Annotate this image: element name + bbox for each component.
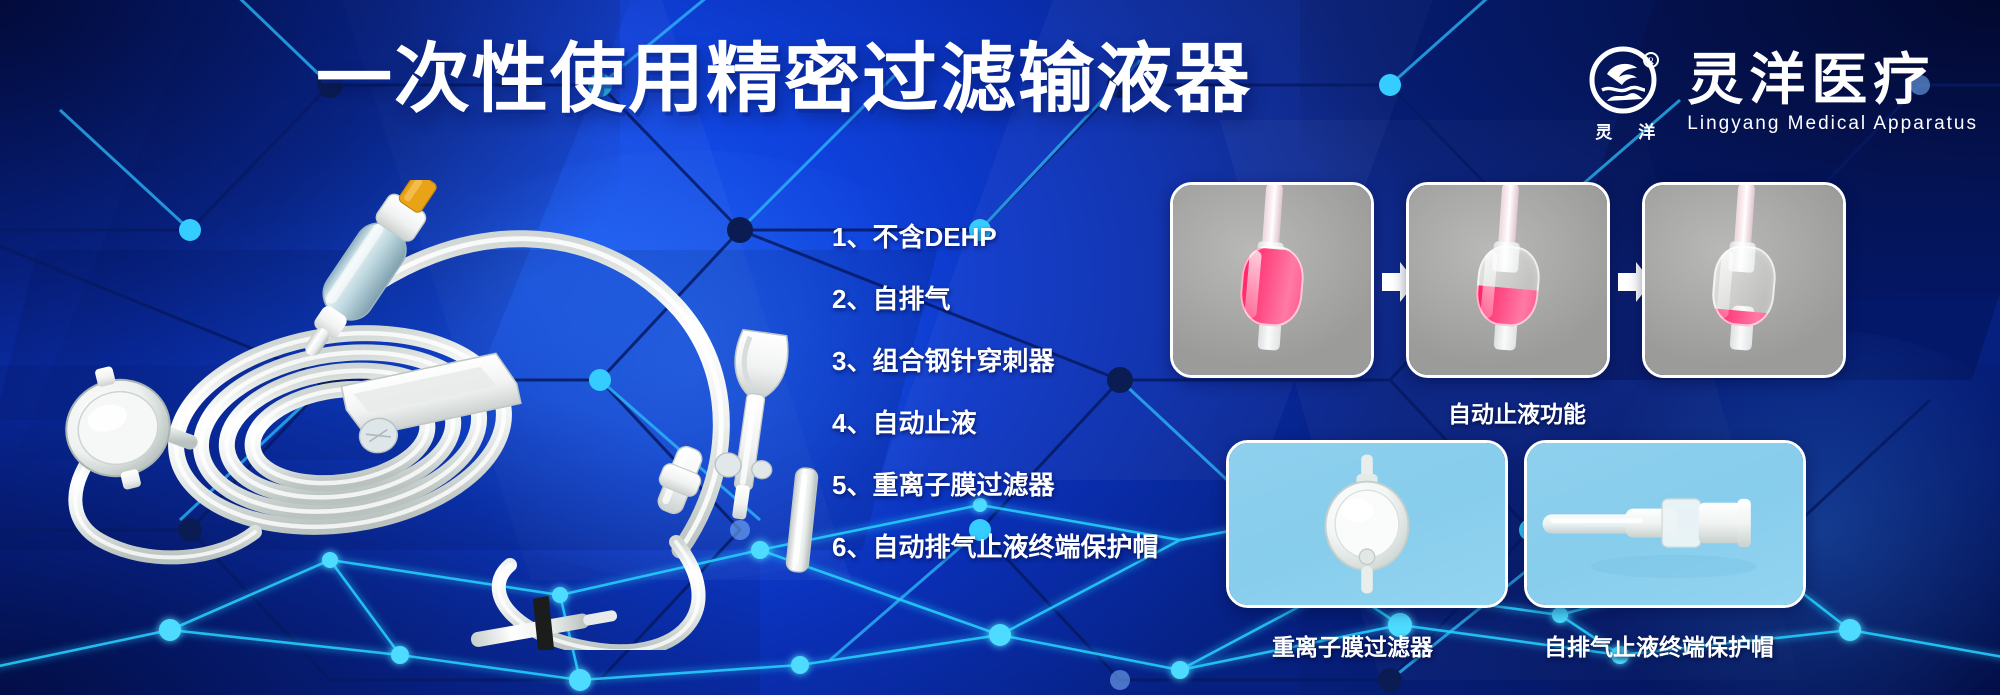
bottom-photo-filter bbox=[1226, 440, 1508, 608]
feature-item-3: 3、组合钢针穿刺器 bbox=[832, 348, 1158, 374]
sequence-photo-2 bbox=[1406, 182, 1610, 378]
bottom-photo-cap-image bbox=[1527, 443, 1803, 605]
page-title: 一次性使用精密过滤输液器 bbox=[316, 42, 1252, 118]
sequence-photo-3 bbox=[1642, 182, 1846, 378]
bottom-caption-filter: 重离子膜过滤器 bbox=[1272, 628, 1433, 662]
sequence-photo-1-image bbox=[1173, 185, 1371, 375]
feature-item-2: 2、自排气 bbox=[832, 286, 1158, 312]
company-logo: R 灵 洋 灵洋医疗 Lingyang Medical Apparatus bbox=[1579, 44, 1978, 143]
logo-wordmark: 灵洋医疗 Lingyang Medical Apparatus bbox=[1687, 52, 1978, 134]
bottom-photo-cap bbox=[1524, 440, 1806, 608]
feature-item-5: 5、重离子膜过滤器 bbox=[832, 472, 1158, 498]
sequence-caption: 自动止液功能 bbox=[1448, 395, 1586, 429]
sequence-photo-1 bbox=[1170, 182, 1374, 378]
product-banner: 一次性使用精密过滤输液器 R 灵 洋 灵洋医疗 Lingyang Medica bbox=[0, 0, 2000, 695]
logo-mark: R 灵 洋 bbox=[1579, 44, 1671, 143]
product-photo-infusion-set bbox=[40, 180, 830, 650]
logo-subcharacters: 灵 洋 bbox=[1595, 118, 1655, 143]
sequence-photo-3-image bbox=[1645, 185, 1843, 375]
feature-item-6: 6、自动排气止液终端保护帽 bbox=[832, 534, 1158, 560]
sequence-photo-2-image bbox=[1409, 185, 1607, 375]
bottom-caption-cap: 自排气止液终端保护帽 bbox=[1544, 628, 1774, 662]
lingyang-emblem-icon: R bbox=[1589, 44, 1661, 116]
feature-list: 1、不含DEHP 2、自排气 3、组合钢针穿刺器 4、自动止液 5、重离子膜过滤… bbox=[832, 224, 1158, 560]
svg-text:R: R bbox=[1648, 56, 1654, 66]
bottom-photo-filter-image bbox=[1229, 443, 1505, 605]
logo-char-yang: 洋 bbox=[1638, 118, 1655, 143]
feature-item-4: 4、自动止液 bbox=[832, 410, 1158, 436]
company-name-en: Lingyang Medical Apparatus bbox=[1687, 113, 1978, 135]
logo-char-ling: 灵 bbox=[1595, 118, 1612, 143]
feature-item-1: 1、不含DEHP bbox=[832, 224, 1158, 250]
company-name-cn: 灵洋医疗 bbox=[1687, 52, 1978, 110]
